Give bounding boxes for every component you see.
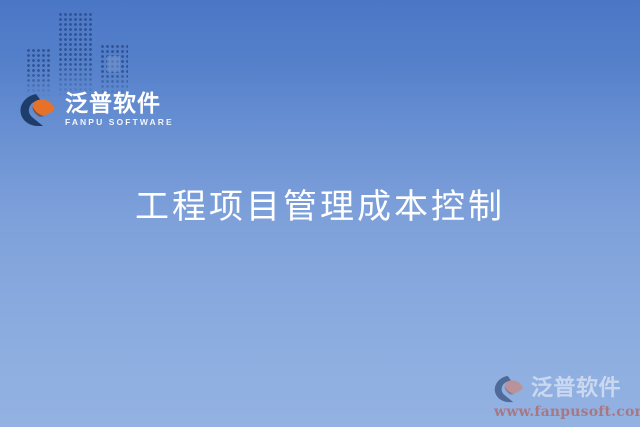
building-left xyxy=(26,48,52,98)
dotted-cityscape-graphic xyxy=(24,6,140,98)
presentation-slide: 泛普软件 FANPU SOFTWARE 工程项目管理成本控制 泛普软件 www.… xyxy=(0,0,640,427)
brand-name-en: FANPU SOFTWARE xyxy=(65,118,174,127)
brand-logo: 泛普软件 FANPU SOFTWARE xyxy=(20,93,174,127)
watermark-name-cn: 泛普软件 xyxy=(531,378,621,400)
watermark-logo-row: 泛普软件 xyxy=(494,375,634,403)
slide-title: 工程项目管理成本控制 xyxy=(0,186,640,229)
watermark: 泛普软件 www.fanpusoft.com xyxy=(494,375,634,419)
fanpu-logo-mark-icon xyxy=(494,375,526,403)
fanpu-logo-mark-icon xyxy=(20,93,58,127)
building-right xyxy=(100,44,128,98)
brand-logo-text: 泛普软件 FANPU SOFTWARE xyxy=(65,93,174,127)
watermark-url: www.fanpusoft.com xyxy=(494,405,634,419)
brand-name-cn: 泛普软件 xyxy=(65,93,174,116)
building-center xyxy=(58,12,94,98)
